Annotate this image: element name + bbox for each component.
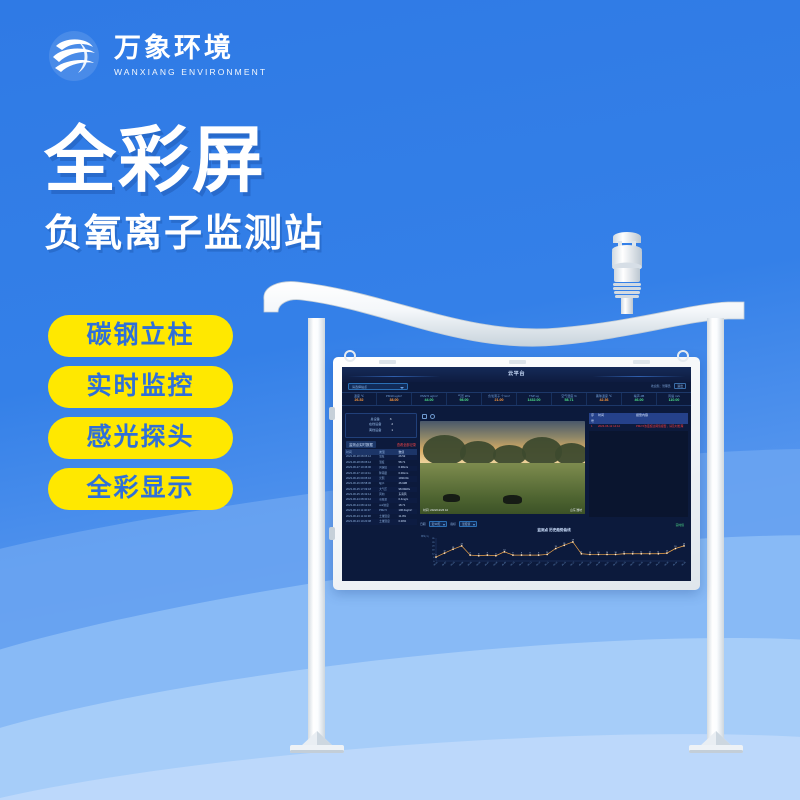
- video-timestamp: 时间: 2022/12/26 42: [423, 508, 448, 512]
- chart-type-select[interactable]: 温度值: [459, 521, 477, 527]
- summary-row: 离线设备 1: [349, 428, 413, 434]
- cell-time: 2023-06-23 10:20:08: [345, 519, 378, 524]
- mount-ring-left: [344, 350, 356, 362]
- svg-text:06-30: 06-30: [682, 562, 687, 567]
- base-plate-right: [687, 731, 745, 755]
- summary-count: 1: [391, 428, 393, 434]
- metric-cell: 风速 m/s 110.00: [657, 393, 691, 405]
- svg-text:19: 19: [674, 546, 676, 548]
- svg-text:06-16: 06-16: [562, 562, 567, 567]
- fullscreen-icon[interactable]: [422, 414, 427, 419]
- svg-text:24: 24: [563, 543, 565, 545]
- svg-text:6: 6: [433, 557, 435, 559]
- video-ground: [420, 463, 585, 513]
- svg-text:9: 9: [521, 553, 522, 555]
- metric-cell: PM2.5 ug/m³ 44.00: [412, 393, 447, 405]
- svg-text:06-13: 06-13: [536, 562, 541, 567]
- svg-text:06-18: 06-18: [579, 562, 584, 567]
- cell-type: 土壤湿度: [378, 519, 397, 524]
- support-post-left: [308, 318, 325, 748]
- svg-text:23: 23: [683, 543, 685, 545]
- svg-text:06-17: 06-17: [570, 562, 575, 567]
- svg-text:06-02: 06-02: [442, 562, 447, 567]
- svg-text:35: 35: [432, 538, 435, 540]
- video-location-tag: 山东 潍坊: [570, 508, 582, 512]
- metric-cell: 空气湿度 % 58.71: [552, 393, 587, 405]
- svg-text:06-21: 06-21: [605, 562, 610, 567]
- frame-clip: [633, 360, 650, 364]
- chart-plot: 061218232935606-011206-021806-032306-049…: [420, 534, 688, 570]
- hinge: [329, 407, 335, 420]
- metric-value: 42.36: [587, 398, 621, 403]
- metric-cell: TSP ug 1432.00: [517, 393, 552, 405]
- svg-text:06-06: 06-06: [476, 562, 481, 567]
- account-label: 欢迎您：管理员: [651, 384, 671, 388]
- metric-value: 44.00: [412, 398, 446, 403]
- chart-type-label: 指标: [450, 522, 456, 526]
- svg-text:06-12: 06-12: [528, 562, 533, 567]
- metric-cell: 气压 kPa 98.00: [447, 393, 482, 405]
- metric-cell: 负氧离子 个/cm³ 21.00: [482, 393, 517, 405]
- svg-text:10: 10: [589, 552, 591, 554]
- cell-value: 0.00%: [398, 519, 417, 524]
- metric-value: 38.00: [377, 398, 411, 403]
- device-summary-box: 总设备 3 在线设备 2 离线设备 1: [345, 413, 417, 438]
- svg-text:10: 10: [606, 552, 608, 554]
- metric-value: 26.52: [342, 398, 376, 403]
- svg-text:11: 11: [580, 551, 582, 553]
- svg-text:18: 18: [432, 550, 435, 552]
- summary-label: 离线设备: [369, 428, 381, 434]
- svg-text:06-04: 06-04: [459, 562, 464, 567]
- column-header: 序号: [589, 413, 596, 424]
- logout-button[interactable]: 退出: [674, 383, 686, 389]
- svg-text:10: 10: [597, 552, 599, 554]
- svg-text:29: 29: [572, 540, 574, 542]
- video-tree: [493, 445, 526, 465]
- chart-title: 监测点 历史趋势曲线: [420, 528, 688, 533]
- svg-text:9: 9: [512, 553, 513, 555]
- view-all-link[interactable]: 查看全部记录: [397, 442, 416, 447]
- svg-text:06-05: 06-05: [468, 562, 473, 567]
- metric-cell: 噪声 dB 46.00: [622, 393, 657, 405]
- svg-text:06-03: 06-03: [451, 562, 456, 567]
- svg-text:12: 12: [666, 551, 668, 553]
- alarm-time: 2023-06-12 14:12: [596, 424, 634, 429]
- svg-text:06-11: 06-11: [519, 562, 524, 567]
- frame-clip: [379, 360, 396, 364]
- video-feed[interactable]: 时间: 2022/12/26 42 山东 潍坊: [420, 421, 585, 514]
- chart-svg: 061218232935606-011206-021806-032306-049…: [420, 534, 688, 570]
- svg-text:10: 10: [546, 552, 548, 554]
- svg-text:9: 9: [538, 553, 539, 555]
- svg-text:9: 9: [487, 553, 488, 555]
- history-chart-panel: 日期 近30天 指标 温度值 实时值 监测点 历史趋势曲线 0612182329…: [420, 521, 688, 579]
- video-tree: [555, 443, 585, 465]
- svg-text:06-09: 06-09: [502, 562, 507, 567]
- svg-text:23: 23: [432, 546, 435, 548]
- data-table-header: 监测点实时数据 查看全部记录: [345, 441, 417, 448]
- chart-legend: 实时值: [676, 523, 684, 527]
- data-table-title: 监测点实时数据: [346, 441, 376, 448]
- svg-text:9: 9: [470, 553, 471, 555]
- svg-text:06-19: 06-19: [587, 562, 592, 567]
- svg-text:18: 18: [452, 547, 454, 549]
- canopy-beam: [258, 278, 748, 338]
- metric-value: 98.00: [447, 398, 481, 403]
- svg-text:06-22: 06-22: [613, 562, 618, 567]
- alarm-list-empty-area: [589, 431, 688, 517]
- display-monitor: 云平台 请选择站点 欢迎您：管理员 退出 温度 ℃ 26.52 PM10 ug/…: [333, 357, 700, 590]
- chart-filter-bar: 日期 近30天 指标 温度值 实时值: [420, 521, 688, 527]
- svg-text:06-07: 06-07: [485, 562, 490, 567]
- chart-date-select[interactable]: 近30天: [429, 521, 448, 527]
- column-header: 报警内容: [634, 413, 688, 424]
- svg-text:06-26: 06-26: [647, 562, 652, 567]
- svg-text:11: 11: [632, 551, 634, 553]
- svg-text:06-25: 06-25: [639, 562, 644, 567]
- metric-value: 21.00: [482, 398, 516, 403]
- metric-cell: PM10 ug/m³ 38.00: [377, 393, 412, 405]
- metric-value: 58.71: [552, 398, 586, 403]
- svg-text:11: 11: [640, 551, 642, 553]
- video-cow: [503, 495, 522, 504]
- svg-text:单位(℃): 单位(℃): [421, 534, 429, 538]
- svg-text:6: 6: [435, 555, 436, 557]
- column-header: 时间: [596, 413, 634, 424]
- svg-text:06-27: 06-27: [656, 562, 661, 567]
- svg-text:11: 11: [649, 551, 651, 553]
- svg-text:06-08: 06-08: [493, 562, 498, 567]
- svg-text:23: 23: [461, 543, 463, 545]
- svg-text:19: 19: [555, 546, 557, 548]
- svg-text:06-10: 06-10: [510, 562, 515, 567]
- svg-text:06-14: 06-14: [545, 562, 550, 567]
- alarm-message: PM2.5浓度超过阈值报警，请及时处理: [634, 424, 688, 429]
- product-rig: 云平台 请选择站点 欢迎您：管理员 退出 温度 ℃ 26.52 PM10 ug/…: [0, 0, 800, 800]
- svg-text:06-29: 06-29: [673, 562, 678, 567]
- dashboard-title: 云平台: [342, 370, 691, 377]
- svg-text:29: 29: [432, 542, 435, 544]
- metric-value: 1432.00: [517, 398, 551, 403]
- svg-text:11: 11: [657, 551, 659, 553]
- svg-text:06-24: 06-24: [630, 562, 635, 567]
- metric-value: 46.00: [622, 398, 656, 403]
- svg-text:8: 8: [478, 553, 479, 555]
- table-row[interactable]: 2023-06-23 10:20:08 土壤湿度 0.00%: [345, 519, 417, 524]
- metric-cell: 黑球温度 ℃ 42.36: [587, 393, 622, 405]
- frame-clip: [509, 360, 526, 364]
- chart-date-label: 日期: [420, 522, 426, 526]
- camera-icon[interactable]: [430, 414, 435, 419]
- video-cow: [443, 494, 460, 502]
- metric-strip: 温度 ℃ 26.52 PM10 ug/m³ 38.00 PM2.5 ug/m³ …: [342, 392, 691, 406]
- data-table: 时间 类型 数值 2023-06-28 08:05:12 温度 26.52 20…: [345, 449, 417, 525]
- station-select[interactable]: 请选择站点: [348, 383, 408, 390]
- metric-cell: 温度 ℃ 26.52: [342, 393, 377, 405]
- svg-text:06-15: 06-15: [553, 562, 558, 567]
- svg-text:14: 14: [503, 549, 505, 551]
- alarm-header-row: 序号 时间 报警内容: [589, 413, 688, 424]
- video-toolbar: [420, 413, 585, 421]
- dashboard-header: 云平台: [342, 367, 691, 382]
- account-area: 欢迎您：管理员 退出: [651, 383, 686, 389]
- svg-text:06-23: 06-23: [622, 562, 627, 567]
- metric-value: 110.00: [657, 398, 691, 403]
- svg-text:11: 11: [623, 551, 625, 553]
- svg-text:06-28: 06-28: [664, 562, 669, 567]
- base-plate-left: [288, 731, 346, 755]
- screen-dashboard: 云平台 请选择站点 欢迎您：管理员 退出 温度 ℃ 26.52 PM10 ug/…: [342, 367, 691, 581]
- alarm-index: 1: [589, 424, 596, 429]
- mount-ring-right: [677, 350, 689, 362]
- svg-text:10: 10: [615, 552, 617, 554]
- left-column: 总设备 3 在线设备 2 离线设备 1 监测点实时数据: [342, 411, 419, 581]
- svg-text:06-20: 06-20: [596, 562, 601, 567]
- weather-sensor-icon: [605, 228, 649, 314]
- support-post-right: [707, 318, 724, 748]
- svg-text:12: 12: [443, 551, 445, 553]
- video-tree: [460, 441, 496, 465]
- svg-text:8: 8: [495, 553, 496, 555]
- hinge: [329, 527, 335, 540]
- svg-text:9: 9: [530, 553, 531, 555]
